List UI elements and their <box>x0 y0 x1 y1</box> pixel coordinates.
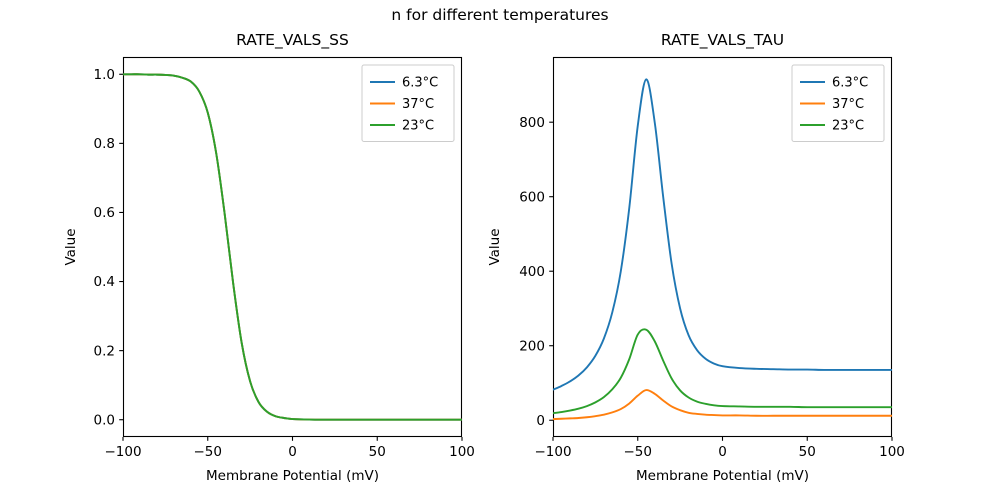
x-tick-label: 0 <box>288 444 297 460</box>
y-tick-label: 0.0 <box>94 412 115 428</box>
subplot-rate-vals-ss: RATE_VALS_SS −100−500501000.00.20.40.60.… <box>123 57 462 437</box>
x-tick-label: 100 <box>449 444 475 460</box>
legend-label-0: 6.3°C <box>402 76 438 91</box>
x-tick-label: −100 <box>104 444 141 460</box>
x-axis-label: Membrane Potential (mV) <box>206 468 379 484</box>
legend-label-1: 37°C <box>402 97 434 112</box>
series-line-2 <box>553 329 892 413</box>
x-axis-label: Membrane Potential (mV) <box>636 468 809 484</box>
x-tick-label: −100 <box>534 444 571 460</box>
matplotlib-figure: n for different temperatures RATE_VALS_S… <box>0 0 1000 500</box>
plot-area-ss: −100−500501000.00.20.40.60.81.0Membrane … <box>123 57 462 437</box>
y-tick-label: 800 <box>519 115 545 131</box>
y-tick-label: 0.8 <box>94 136 115 152</box>
legend-label-2: 23°C <box>402 119 434 134</box>
subplot-title-tau: RATE_VALS_TAU <box>553 31 892 49</box>
y-tick-label: 200 <box>519 338 545 354</box>
y-tick-label: 0 <box>536 413 545 429</box>
x-tick-label: −50 <box>624 444 653 460</box>
x-tick-label: 0 <box>718 444 727 460</box>
y-tick-label: 0.4 <box>94 274 115 290</box>
plot-area-tau: −100−500501000200400600800Membrane Poten… <box>553 57 892 437</box>
subplot-rate-vals-tau: RATE_VALS_TAU −100−500501000200400600800… <box>553 57 892 437</box>
y-axis-label: Value <box>487 228 503 265</box>
y-tick-label: 1.0 <box>94 67 115 83</box>
x-tick-label: 50 <box>369 444 386 460</box>
x-tick-label: 50 <box>799 444 816 460</box>
x-tick-label: 100 <box>879 444 905 460</box>
y-tick-label: 0.2 <box>94 343 115 359</box>
y-axis-label: Value <box>63 228 79 265</box>
figure-suptitle: n for different temperatures <box>0 6 1000 24</box>
subplot-title-ss: RATE_VALS_SS <box>123 31 462 49</box>
x-tick-label: −50 <box>194 444 223 460</box>
legend-label-1: 37°C <box>832 97 864 112</box>
y-tick-label: 400 <box>519 264 545 280</box>
legend-label-2: 23°C <box>832 119 864 134</box>
legend-label-0: 6.3°C <box>832 76 868 91</box>
series-line-1 <box>553 390 892 419</box>
y-tick-label: 600 <box>519 189 545 205</box>
y-tick-label: 0.6 <box>94 205 115 221</box>
